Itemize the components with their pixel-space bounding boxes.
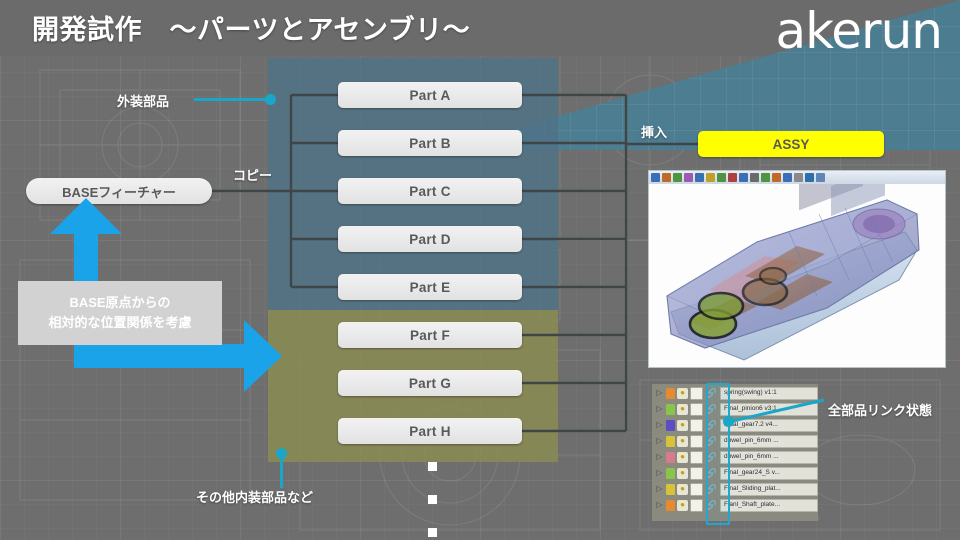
cad-toolbar-icon-11[interactable] xyxy=(761,173,770,182)
part-box-e[interactable]: Part E xyxy=(338,274,522,300)
copy-label: コピー xyxy=(233,165,272,184)
cad-toolbar-icon-5[interactable] xyxy=(695,173,704,182)
tree-item-label: Final_Sliding_plat... xyxy=(720,483,818,496)
expand-caret-icon[interactable]: ▷ xyxy=(655,405,664,413)
interior-callout-label: その他内装部品など xyxy=(196,487,313,506)
component-color-swatch xyxy=(666,484,675,495)
expand-caret-icon[interactable]: ▷ xyxy=(655,421,664,429)
part-box-d[interactable]: Part D xyxy=(338,226,522,252)
document-icon xyxy=(690,387,703,400)
tree-item-label: Final_gear24_S v... xyxy=(720,467,818,480)
visibility-bulb-icon[interactable]: ● xyxy=(677,468,688,479)
bullet-square-1 xyxy=(428,462,437,471)
document-icon xyxy=(690,435,703,448)
slide-canvas: 開発試作 〜パーツとアセンブリ〜 akerun Part A Part B Pa… xyxy=(0,0,960,540)
visibility-bulb-icon[interactable]: ● xyxy=(677,500,688,511)
cad-toolbar-icon-16[interactable] xyxy=(816,173,825,182)
bullet-square-2 xyxy=(428,495,437,504)
component-color-swatch xyxy=(666,420,675,431)
part-box-b[interactable]: Part B xyxy=(338,130,522,156)
part-box-g[interactable]: Part G xyxy=(338,370,522,396)
cad-toolbar-icon-13[interactable] xyxy=(783,173,792,182)
visibility-bulb-icon[interactable]: ● xyxy=(677,436,688,447)
document-icon xyxy=(690,451,703,464)
exterior-callout-line xyxy=(194,98,270,101)
cad-toolbar-icon-1[interactable] xyxy=(651,173,660,182)
tree-item-label: dowel_pin_6mm ... xyxy=(720,451,818,464)
cad-model-render xyxy=(649,184,945,367)
cad-screenshot xyxy=(648,170,946,368)
cad-toolbar-icon-2[interactable] xyxy=(662,173,671,182)
cad-toolbar-icon-12[interactable] xyxy=(772,173,781,182)
cad-toolbar-icon-9[interactable] xyxy=(739,173,748,182)
expand-caret-icon[interactable]: ▷ xyxy=(655,485,664,493)
expand-caret-icon[interactable]: ▷ xyxy=(655,501,664,509)
link-state-callout-line xyxy=(720,398,830,426)
base-origin-note-line2: 相対的な位置関係を考慮 xyxy=(48,313,191,333)
base-origin-note: BASE原点からの 相対的な位置関係を考慮 xyxy=(18,281,222,345)
cad-toolbar-icon-14[interactable] xyxy=(794,173,803,182)
cad-toolbar xyxy=(649,171,946,185)
cad-viewport xyxy=(649,184,945,367)
document-icon xyxy=(690,419,703,432)
document-icon xyxy=(690,467,703,480)
component-color-swatch xyxy=(666,404,675,415)
bullet-square-3 xyxy=(428,528,437,537)
base-origin-note-line1: BASE原点からの xyxy=(69,293,170,313)
visibility-bulb-icon[interactable]: ● xyxy=(677,420,688,431)
component-color-swatch xyxy=(666,436,675,447)
exterior-callout-label: 外装部品 xyxy=(117,91,169,110)
tree-row[interactable]: ▷●🔗Final_Sliding_plat... xyxy=(652,481,818,497)
visibility-bulb-icon[interactable]: ● xyxy=(677,452,688,463)
interior-callout-dot xyxy=(276,448,287,459)
expand-caret-icon[interactable]: ▷ xyxy=(655,453,664,461)
expand-caret-icon[interactable]: ▷ xyxy=(655,437,664,445)
document-icon xyxy=(690,403,703,416)
insert-label: 挿入 xyxy=(641,122,667,141)
part-box-c[interactable]: Part C xyxy=(338,178,522,204)
visibility-bulb-icon[interactable]: ● xyxy=(677,404,688,415)
part-box-f[interactable]: Part F xyxy=(338,322,522,348)
cad-toolbar-icon-4[interactable] xyxy=(684,173,693,182)
expand-caret-icon[interactable]: ▷ xyxy=(655,389,664,397)
exterior-callout-dot xyxy=(265,94,276,105)
visibility-bulb-icon[interactable]: ● xyxy=(677,484,688,495)
link-state-callout-label: 全部品リンク状態 xyxy=(828,400,932,419)
cad-toolbar-icon-3[interactable] xyxy=(673,173,682,182)
tree-item-label: dowel_pin_6mm ... xyxy=(720,435,818,448)
cad-toolbar-icon-7[interactable] xyxy=(717,173,726,182)
assy-box[interactable]: ASSY xyxy=(698,131,884,157)
tree-item-label: Fianl_Shaft_plate... xyxy=(720,499,818,512)
part-box-h[interactable]: Part H xyxy=(338,418,522,444)
document-icon xyxy=(690,483,703,496)
tree-row[interactable]: ▷●🔗dowel_pin_6mm ... xyxy=(652,433,818,449)
part-box-a[interactable]: Part A xyxy=(338,82,522,108)
tree-row[interactable]: ▷●🔗Final_gear24_S v... xyxy=(652,465,818,481)
tree-row[interactable]: ▷●🔗Fianl_Shaft_plate... xyxy=(652,497,818,513)
tree-row[interactable]: ▷●🔗dowel_pin_6mm ... xyxy=(652,449,818,465)
cad-toolbar-icon-10[interactable] xyxy=(750,173,759,182)
visibility-bulb-icon[interactable]: ● xyxy=(677,388,688,399)
component-color-swatch xyxy=(666,500,675,511)
cad-toolbar-icon-6[interactable] xyxy=(706,173,715,182)
component-color-swatch xyxy=(666,452,675,463)
cad-toolbar-icon-8[interactable] xyxy=(728,173,737,182)
expand-caret-icon[interactable]: ▷ xyxy=(655,469,664,477)
component-color-swatch xyxy=(666,388,675,399)
cad-toolbar-icon-15[interactable] xyxy=(805,173,814,182)
document-icon xyxy=(690,499,703,512)
component-color-swatch xyxy=(666,468,675,479)
